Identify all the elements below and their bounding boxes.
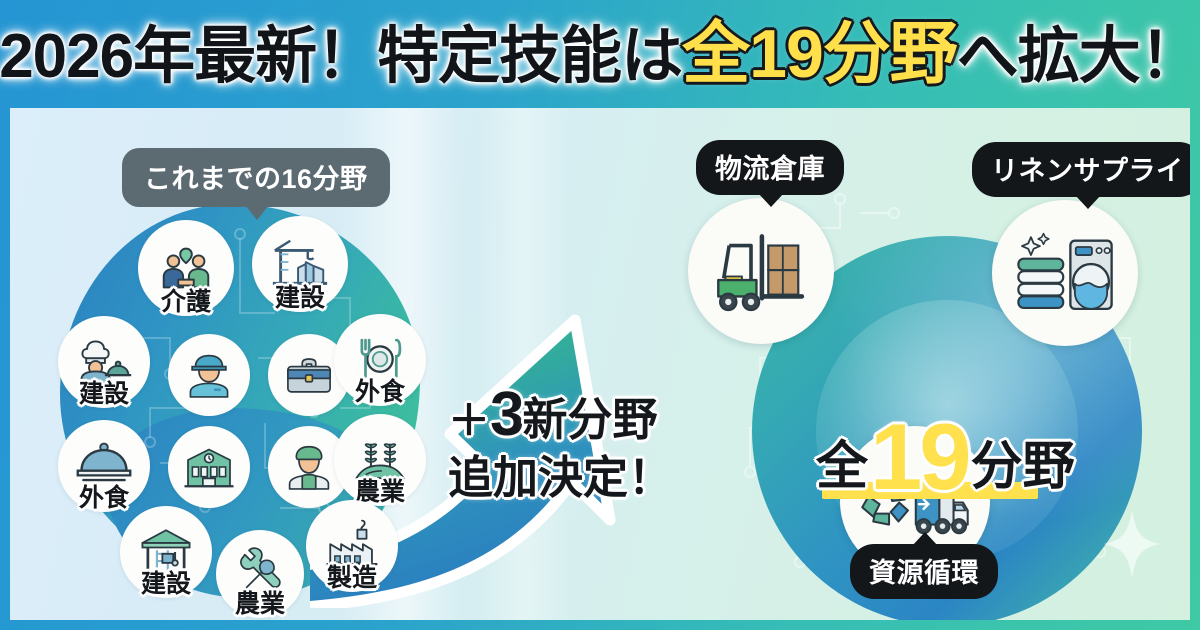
callout-line-2: 追加決定！: [448, 453, 673, 503]
field-chip-kensetsu-scaffold[interactable]: 建設: [120, 506, 212, 598]
field-chip-label: 建設: [79, 374, 129, 410]
field-chip-label: 建設: [141, 564, 191, 600]
field-chip-label: 建設: [275, 278, 325, 314]
field-chip-label: 外食: [79, 478, 129, 514]
new-field-label: 資源循環: [869, 558, 979, 588]
field-chip-gaishoku-cloche[interactable]: 外食: [58, 420, 150, 512]
page-title: 2026年最新！特定技能は 全19分野 へ拡大！: [0, 20, 1200, 88]
callout-plus-sign: ＋: [448, 397, 490, 444]
new-field-chip-linen[interactable]: [992, 200, 1138, 346]
field-chip-building[interactable]: [168, 426, 250, 508]
worker-cap-icon: [182, 348, 236, 402]
title-part-2: へ拡大！: [957, 26, 1200, 88]
total-suffix: 分野: [971, 424, 1075, 499]
header-banner: 2026年最新！特定技能は 全19分野 へ拡大！: [0, 0, 1200, 108]
field-chip-nogyo-wheat[interactable]: 農業: [334, 414, 426, 506]
field-chip-label: 製造: [327, 558, 377, 594]
laundry-washer-icon: [1013, 227, 1117, 319]
content-panel: これまでの16分野 介護: [10, 108, 1190, 620]
field-chip-label: 介護: [161, 282, 211, 318]
new-field-pill-linen: リネンサプライ: [972, 142, 1190, 197]
farmer-apron-icon: [282, 440, 336, 494]
new-field-chip-butsuryu[interactable]: [688, 198, 834, 344]
field-chip-kensetsu-crane[interactable]: 建設: [252, 216, 348, 312]
new-field-label: リネンサプライ: [991, 156, 1184, 186]
field-chip-seizo[interactable]: 製造: [306, 500, 398, 592]
previous-fields-label: これまでの16分野: [144, 164, 368, 194]
title-part-1: 2026年最新！特定技能は: [0, 26, 682, 88]
field-chip-kaigo[interactable]: 介護: [138, 220, 234, 316]
field-chip-label: 農業: [235, 584, 285, 620]
new-field-pill-shigen: 資源循環: [850, 544, 998, 599]
infographic-canvas: 2026年最新！特定技能は 全19分野 へ拡大！: [0, 0, 1200, 630]
previous-fields-bubble: これまでの16分野: [122, 148, 390, 207]
field-chip-label: 外食: [355, 372, 405, 408]
new-field-label: 物流倉庫: [715, 154, 825, 184]
callout-count: 3: [490, 380, 522, 449]
total-fields-label: 全 19 分野: [816, 416, 1075, 499]
total-number: 19: [870, 416, 969, 499]
field-chip-kensetsu-chef[interactable]: 建設: [58, 316, 150, 408]
new-fields-callout: ＋ 3 新分野 追加決定！: [448, 380, 673, 504]
field-chip-worker[interactable]: [168, 334, 250, 416]
title-highlight: 全19分野: [682, 20, 957, 88]
field-chip-gaishoku-cutlery[interactable]: 外食: [334, 314, 426, 406]
building-clock-icon: [181, 439, 237, 495]
briefcase-icon: [282, 348, 336, 402]
forklift-boxes-icon: [711, 225, 811, 317]
callout-rest: 新分野: [523, 395, 658, 445]
callout-line-1: ＋ 3 新分野: [448, 380, 673, 449]
field-chip-nogyo-tools[interactable]: 農業: [216, 530, 304, 618]
total-prefix: 全: [816, 424, 868, 499]
new-field-pill-butsuryu: 物流倉庫: [696, 140, 844, 195]
